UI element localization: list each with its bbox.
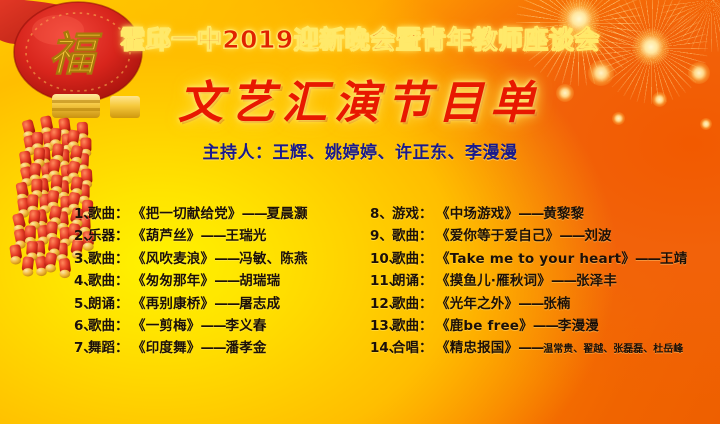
program-item: 2、乐器：《葫芦丝》——王瑞光: [74, 225, 374, 247]
program-item-separator: ——: [518, 206, 543, 222]
program-item-title: 《再别康桥》: [132, 296, 214, 312]
program-item-index: 10、: [370, 248, 392, 270]
program-item-separator: ——: [201, 318, 226, 334]
program-item-performer: 张楠: [543, 296, 570, 312]
program-item-index: 3、: [74, 248, 88, 270]
program-item-separator: ——: [201, 340, 226, 356]
program-item-category: 歌曲：: [392, 248, 436, 270]
program-item-title: 《葫芦丝》: [132, 228, 201, 244]
program-item: 8、游戏：《中场游戏》——黄黎黎: [370, 203, 690, 225]
program-item-category: 游戏：: [392, 203, 436, 225]
program-item-separator: ——: [214, 251, 239, 267]
program-item-title: 《摸鱼儿·雁秋词》: [436, 273, 551, 289]
program-item-index: 7、: [74, 337, 88, 359]
program-item-index: 5、: [74, 293, 88, 315]
program-item-separator: ——: [635, 251, 660, 267]
program-item-title: 《印度舞》: [132, 340, 201, 356]
page-title: 文艺汇演节目单: [0, 66, 720, 131]
program-item-performer: 王靖: [660, 251, 687, 267]
poster-canvas: 福 霍邱一中2019迎新晚会暨青年教师座谈会 文艺汇演节目单 主持人：王辉、姚婷…: [0, 0, 720, 424]
program-item-separator: ——: [559, 228, 584, 244]
program-item-index: 8、: [370, 203, 392, 225]
program-item-title: 《爱你等于爱自己》: [436, 228, 559, 244]
program-item-title: 《匆匆那年》: [132, 273, 214, 289]
program-item-category: 歌曲：: [88, 248, 132, 270]
hosts-line: 主持人：王辉、姚婷婷、许正东、李漫漫: [0, 138, 720, 163]
program-item: 14、合唱：《精忠报国》——温常贵、翟越、张磊磊、杜岳峰: [370, 337, 690, 359]
program-item-category: 歌曲：: [88, 315, 132, 337]
program-item: 9、歌曲：《爱你等于爱自己》——刘波: [370, 225, 690, 247]
program-item-title: 《一剪梅》: [132, 318, 201, 334]
program-item-separator: ——: [551, 273, 576, 289]
program-item-performer: 李义春: [226, 318, 267, 334]
program-item: 5、朗诵：《再别康桥》——屠志成: [74, 293, 374, 315]
program-item-performer: 屠志成: [239, 296, 280, 312]
program-item-performer: 温常贵、翟越、张磊磊、杜岳峰: [543, 344, 683, 355]
program-item-separator: ——: [533, 318, 558, 334]
program-item-separator: ——: [518, 340, 543, 356]
program-item-performer: 张泽丰: [576, 273, 617, 289]
program-item-index: 9、: [370, 225, 392, 247]
program-item-category: 朗诵：: [88, 293, 132, 315]
program-item-category: 舞蹈：: [88, 337, 132, 359]
program-item-index: 13、: [370, 315, 392, 337]
program-item-index: 11、: [370, 270, 392, 292]
program-item-title: 《把一切献给党》: [132, 206, 242, 222]
program-item: 13、歌曲：《鹿be free》——李漫漫: [370, 315, 690, 337]
program-item-category: 歌曲：: [88, 270, 132, 292]
program-item-title: 《风吹麦浪》: [132, 251, 214, 267]
program-item: 3、歌曲：《风吹麦浪》——冯敏、陈燕: [74, 248, 374, 270]
program-column-right: 8、游戏：《中场游戏》——黄黎黎9、歌曲：《爱你等于爱自己》——刘波10、歌曲：…: [370, 203, 690, 360]
program-item-index: 14、: [370, 337, 392, 359]
program-item-separator: ——: [214, 273, 239, 289]
program-item: 10、歌曲：《Take me to your heart》——王靖: [370, 248, 690, 270]
program-item-separator: ——: [201, 228, 226, 244]
program-item-index: 6、: [74, 315, 88, 337]
program-item-category: 歌曲：: [88, 203, 132, 225]
program-item-performer: 李漫漫: [558, 318, 599, 334]
program-item-index: 2、: [74, 225, 88, 247]
program-item-separator: ——: [518, 296, 543, 312]
program-item-title: 《中场游戏》: [436, 206, 518, 222]
program-item-title: 《Take me to your heart》: [436, 251, 635, 267]
program-item-title: 《光年之外》: [436, 296, 518, 312]
program-item-performer: 王瑞光: [226, 228, 267, 244]
program-item-category: 合唱：: [392, 337, 436, 359]
program-item-performer: 潘孝金: [226, 340, 267, 356]
program-item-category: 歌曲：: [392, 315, 436, 337]
program-item-category: 歌曲：: [392, 293, 436, 315]
program-item: 12、歌曲：《光年之外》——张楠: [370, 293, 690, 315]
program-item-category: 歌曲：: [392, 225, 436, 247]
program-item-category: 乐器：: [88, 225, 132, 247]
program-item-separator: ——: [214, 296, 239, 312]
program-item-index: 12、: [370, 293, 392, 315]
program-item-performer: 刘波: [584, 228, 611, 244]
program-item-performer: 夏晨灏: [267, 206, 308, 222]
program-column-left: 1、歌曲：《把一切献给党》——夏晨灏2、乐器：《葫芦丝》——王瑞光3、歌曲：《风…: [74, 203, 374, 360]
program-item-performer: 黄黎黎: [543, 206, 584, 222]
program-item: 7、舞蹈：《印度舞》——潘孝金: [74, 337, 374, 359]
program-item-index: 4、: [74, 270, 88, 292]
program-list: 1、歌曲：《把一切献给党》——夏晨灏2、乐器：《葫芦丝》——王瑞光3、歌曲：《风…: [0, 203, 720, 373]
program-item-category: 朗诵：: [392, 270, 436, 292]
program-item-separator: ——: [242, 206, 267, 222]
program-item-title: 《鹿be free》: [436, 318, 533, 334]
program-item: 4、歌曲：《匆匆那年》——胡瑞瑞: [74, 270, 374, 292]
program-item: 6、歌曲：《一剪梅》——李义春: [74, 315, 374, 337]
program-item: 1、歌曲：《把一切献给党》——夏晨灏: [74, 203, 374, 225]
program-item-performer: 冯敏、陈燕: [239, 251, 308, 267]
program-item-index: 1、: [74, 203, 88, 225]
program-item: 11、朗诵：《摸鱼儿·雁秋词》——张泽丰: [370, 270, 690, 292]
event-title: 霍邱一中2019迎新晚会暨青年教师座谈会: [0, 20, 720, 56]
program-item-performer: 胡瑞瑞: [239, 273, 280, 289]
program-item-title: 《精忠报国》: [436, 340, 518, 356]
